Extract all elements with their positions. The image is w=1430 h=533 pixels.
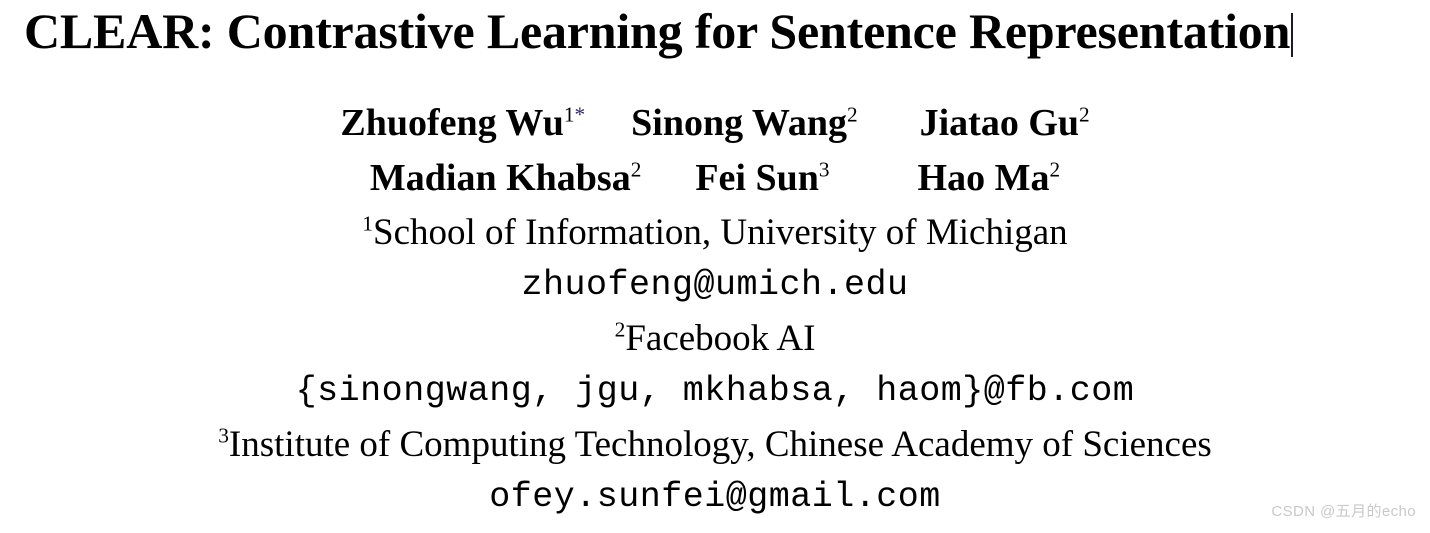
affiliation-marker: 1 [362, 212, 373, 236]
affiliation-3: 3Institute of Computing Technology, Chin… [0, 418, 1430, 471]
email-umich[interactable]: zhuofeng@umich.edu [0, 259, 1430, 312]
author-affiliation-marker: 2 [631, 157, 642, 181]
email-facebook[interactable]: {sinongwang, jgu, mkhabsa, haom}@fb.com [0, 365, 1430, 418]
affiliation-text: Institute of Computing Technology, Chine… [229, 424, 1212, 465]
author-line-2: Madian Khabsa2Fei Sun3Hao Ma2 [0, 151, 1430, 206]
author-affiliation-block: Zhuofeng Wu1*Sinong Wang2Jiatao Gu2 Madi… [0, 96, 1430, 524]
author-hao-ma: Hao Ma2 [918, 151, 1061, 206]
author-name: Zhuofeng Wu [340, 102, 564, 144]
affiliation-marker-value: 1 [564, 102, 575, 126]
author-affiliation-marker: 2 [1049, 157, 1060, 181]
author-line-1: Zhuofeng Wu1*Sinong Wang2Jiatao Gu2 [0, 96, 1430, 151]
author-name: Madian Khabsa [370, 157, 631, 199]
csdn-watermark: CSDN @五月的echo [1271, 500, 1416, 521]
affiliation-marker: 2 [615, 318, 626, 342]
author-sinong-wang: Sinong Wang2 [631, 96, 857, 151]
email-gmail[interactable]: ofey.sunfei@gmail.com [0, 471, 1430, 524]
affiliation-text: School of Information, University of Mic… [373, 212, 1068, 253]
author-fei-sun: Fei Sun3 [695, 151, 829, 206]
corresponding-author-star: * [575, 102, 586, 126]
paper-title-row: CLEAR: Contrastive Learning for Sentence… [0, 0, 1430, 62]
author-name: Sinong Wang [631, 102, 847, 144]
author-affiliation-marker: 2 [1079, 102, 1090, 126]
affiliation-1: 1School of Information, University of Mi… [0, 206, 1430, 259]
author-affiliation-marker: 3 [819, 157, 830, 181]
author-name: Fei Sun [695, 157, 819, 199]
author-madian-khabsa: Madian Khabsa2 [370, 151, 641, 206]
author-name: Jiatao Gu [920, 102, 1079, 144]
author-jiatao-gu: Jiatao Gu2 [920, 96, 1090, 151]
text-cursor-caret [1291, 13, 1293, 57]
author-name: Hao Ma [918, 157, 1050, 199]
page-title: CLEAR: Contrastive Learning for Sentence… [0, 2, 1290, 60]
affiliation-text: Facebook AI [625, 318, 815, 359]
author-affiliation-marker: 2 [847, 102, 858, 126]
author-zhuofeng-wu: Zhuofeng Wu1* [340, 96, 585, 151]
paper-header-page: CLEAR: Contrastive Learning for Sentence… [0, 0, 1430, 533]
affiliation-marker: 3 [218, 424, 229, 448]
affiliation-2: 2Facebook AI [0, 312, 1430, 365]
author-affiliation-marker: 1* [564, 102, 585, 126]
